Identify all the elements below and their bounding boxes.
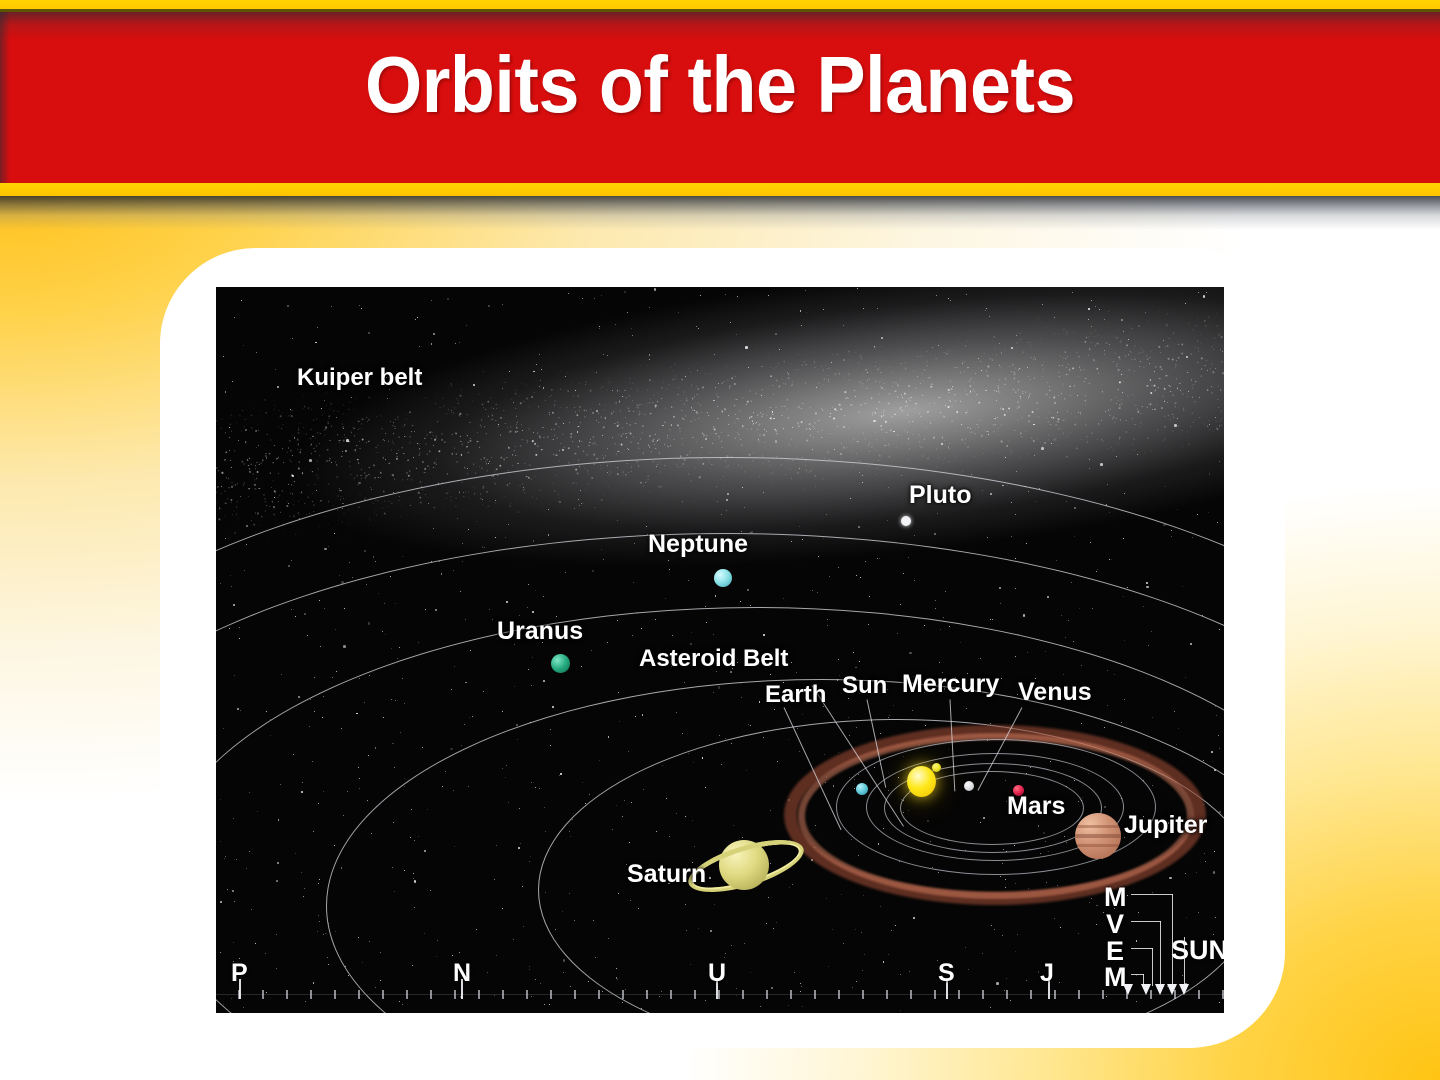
- inset-arrow-earth: [1141, 984, 1151, 995]
- axis-tick: [694, 990, 696, 999]
- pluto-icon: [901, 516, 911, 526]
- axis-tick: [1054, 990, 1056, 999]
- venus-icon: [932, 763, 941, 772]
- jupiter-bands: [1075, 813, 1121, 859]
- mercury-icon: [964, 781, 974, 791]
- axis-tick: [1030, 990, 1032, 999]
- inset-arrow-mars: [1167, 984, 1177, 995]
- inset-arrow-mercury: [1123, 984, 1133, 995]
- axis-tick: [262, 990, 264, 999]
- axis-tick: [310, 990, 312, 999]
- axis-label-N: N: [453, 959, 471, 988]
- sun-icon: [907, 766, 936, 797]
- label-asteroid-belt: Asteroid Belt: [639, 647, 788, 671]
- title-bar-left-edge-shadow: [0, 12, 10, 183]
- axis-tick: [958, 990, 960, 999]
- label-jupiter: Jupiter: [1124, 813, 1207, 838]
- axis-tick: [478, 990, 480, 999]
- label-saturn: Saturn: [627, 862, 706, 887]
- axis-tick: [334, 990, 336, 999]
- header-top-gold-stripe: [0, 0, 1440, 9]
- axis-tick: [430, 990, 432, 999]
- uranus-icon: [551, 654, 570, 673]
- axis-tick: [622, 990, 624, 999]
- axis-label-P: P: [231, 959, 248, 988]
- axis-tick: [406, 990, 408, 999]
- axis-baseline: [216, 994, 1224, 995]
- axis-tick: [766, 990, 768, 999]
- axis-tick: [286, 990, 288, 999]
- label-mercury: Mercury: [902, 672, 999, 697]
- axis-tick: [982, 990, 984, 999]
- axis-tick: [670, 990, 672, 999]
- page-title: Orbits of the Planets: [58, 45, 1383, 125]
- inset-bracket-venus-h: [1131, 921, 1161, 922]
- earth-icon: [856, 783, 868, 795]
- inset-label-earth: E: [1106, 938, 1124, 965]
- title-bar-inner-shadow: [0, 12, 1440, 40]
- axis-tick: [910, 990, 912, 999]
- axis-tick: [742, 990, 744, 999]
- label-mars: Mars: [1007, 794, 1065, 819]
- inset-bracket-earth-v: [1152, 948, 1153, 986]
- inset-arrow-sun: [1179, 984, 1189, 995]
- axis-tick: [1222, 990, 1224, 999]
- axis-tick: [598, 990, 600, 999]
- label-uranus: Uranus: [497, 619, 583, 644]
- axis-tick: [526, 990, 528, 999]
- axis-label-J: J: [1040, 959, 1054, 988]
- axis-tick: [718, 990, 720, 999]
- axis-tick: [574, 990, 576, 999]
- axis-tick: [886, 990, 888, 999]
- label-kuiper-belt: Kuiper belt: [297, 366, 422, 390]
- solar-system-orbits-diagram: Kuiper belt Pluto Neptune Uranus Asteroi…: [216, 287, 1224, 1013]
- label-earth: Earth: [765, 683, 826, 707]
- axis-tick: [454, 990, 456, 999]
- axis-tick: [934, 990, 936, 999]
- axis-tick: [862, 990, 864, 999]
- axis-label-S: S: [938, 959, 955, 988]
- label-sun: Sun: [842, 674, 887, 698]
- inset-arrow-venus: [1155, 984, 1165, 995]
- label-neptune: Neptune: [648, 532, 748, 557]
- axis-tick: [1198, 990, 1200, 999]
- axis-tick: [838, 990, 840, 999]
- inset-label-sun: SUN: [1171, 937, 1224, 964]
- inset-bracket-venus-v: [1160, 921, 1161, 986]
- label-pluto: Pluto: [909, 483, 972, 508]
- axis-tick: [382, 990, 384, 999]
- inset-bracket-mars-v: [1172, 894, 1173, 986]
- axis-tick: [358, 990, 360, 999]
- inset-bracket-mars-h: [1131, 894, 1173, 895]
- inset-label-mars: M: [1104, 884, 1127, 911]
- axis-tick: [1006, 990, 1008, 999]
- axis-tick: [790, 990, 792, 999]
- inset-label-venus: V: [1106, 911, 1124, 938]
- header-dropshadow: [0, 196, 1440, 230]
- axis-tick: [550, 990, 552, 999]
- neptune-icon: [714, 569, 732, 587]
- axis-tick: [646, 990, 648, 999]
- inset-bracket-earth-h: [1131, 948, 1153, 949]
- axis-tick: [1078, 990, 1080, 999]
- label-venus: Venus: [1018, 680, 1092, 705]
- inset-bracket-sun-v: [1184, 937, 1185, 986]
- slide-root: Orbits of the Planets: [0, 0, 1440, 1080]
- axis-tick: [814, 990, 816, 999]
- axis-label-U: U: [708, 959, 726, 988]
- header-bottom-gold-stripe: [0, 183, 1440, 196]
- axis-tick: [502, 990, 504, 999]
